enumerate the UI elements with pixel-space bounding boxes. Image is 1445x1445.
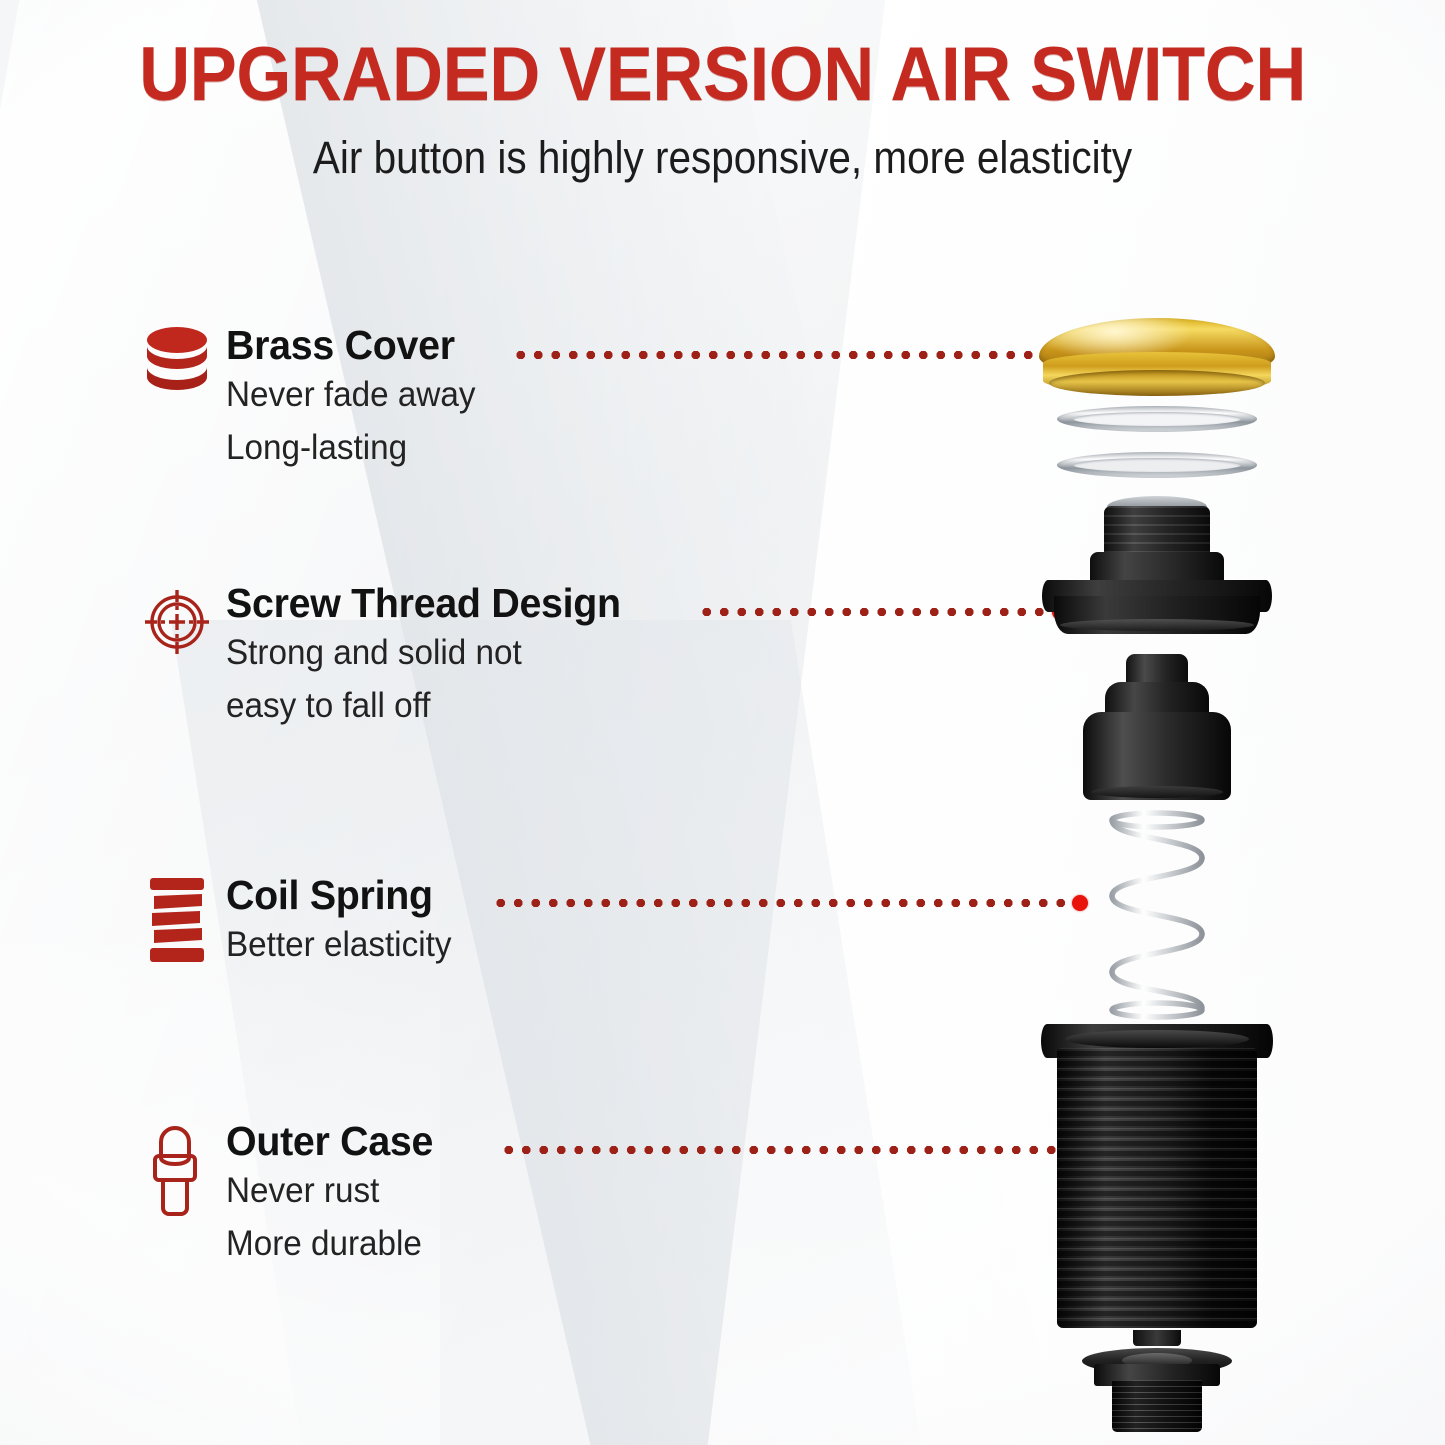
feature-text: Screw Thread Design Strong and solid not… [216,580,637,732]
feature-outer-case: Outer Case Never rust More durable [138,1118,442,1270]
feature-screw-thread: Screw Thread Design Strong and solid not… [138,580,637,732]
feature-line: Strong and solid not [226,626,617,679]
feature-line: easy to fall off [226,679,617,732]
case-threaded-barrel [1057,1048,1257,1328]
product-part-brass-cover [1039,318,1275,394]
page-title: UPGRADED VERSION AIR SWITCH [51,0,1395,116]
feature-text: Brass Cover Never fade away Long-lasting [216,322,489,474]
product-part-coil-spring [1099,810,1215,1022]
product-part-plunger-cap [1077,654,1237,802]
feature-line: Long-lasting [226,421,476,474]
nut-thread [1112,1380,1202,1432]
outer-case-icon [138,1118,216,1222]
feature-coil-spring: Coil Spring Better elasticity [138,872,463,971]
plunger-barrel [1083,712,1231,800]
brass-rim [1049,370,1265,396]
leader-line-coil-spring [492,898,1088,907]
feature-line: Never fade away [226,368,476,421]
feature-text: Coil Spring Better elasticity [216,872,463,971]
page-subtitle: Air button is highly responsive, more el… [72,116,1373,184]
crosshair-target-icon [138,580,216,660]
product-part-washer-ring-lower [1057,452,1257,478]
leader-dots [512,351,1055,359]
collar-skirt [1054,596,1260,634]
coil-spring-icon [138,872,216,968]
infographic-canvas: UPGRADED VERSION AIR SWITCH Air button i… [0,0,1445,1445]
leader-dots [492,899,1075,907]
leader-line-outer-case [500,1145,1088,1154]
disc-stack-icon [138,322,216,402]
leader-dots [698,608,1055,616]
feature-line: More durable [226,1217,431,1270]
product-part-outer-case [1057,1024,1257,1340]
product-part-threaded-collar [1042,496,1272,636]
product-exploded-view [1012,318,1302,1436]
washer-hole [1073,412,1241,426]
feature-title: Coil Spring [226,872,454,918]
feature-line: Never rust [226,1164,431,1217]
feature-title: Brass Cover [226,322,478,368]
feature-title: Outer Case [226,1118,433,1164]
header: UPGRADED VERSION AIR SWITCH Air button i… [0,0,1445,184]
washer-hole [1073,458,1241,472]
feature-brass-cover: Brass Cover Never fade away Long-lasting [138,322,489,474]
leader-dots [500,1146,1075,1154]
product-part-bottom-nut [1082,1348,1232,1436]
leader-line-brass-cover [512,350,1068,359]
feature-line: Better elasticity [226,918,451,971]
product-part-washer-ring-upper [1057,406,1257,432]
feature-title: Screw Thread Design [226,580,621,626]
case-foot [1133,1330,1181,1346]
feature-text: Outer Case Never rust More durable [216,1118,442,1270]
